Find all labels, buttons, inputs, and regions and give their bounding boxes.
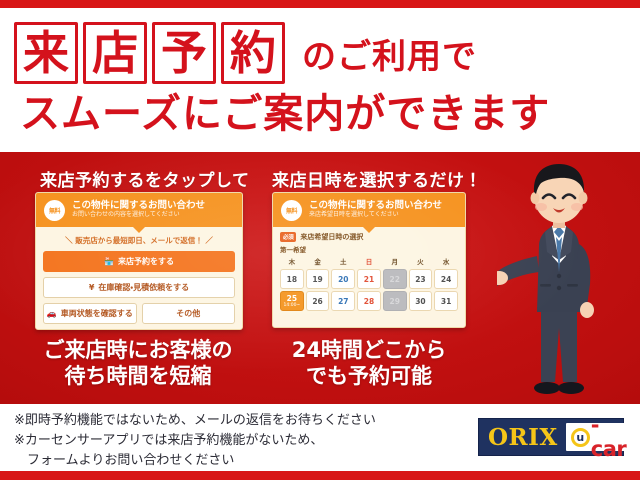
left-caption-line-1: ご来店時にお客様の — [18, 338, 258, 364]
stock-quote-button-label: 在庫確認・見積依頼をする — [98, 282, 189, 293]
calendar-day-cell[interactable]: 20 — [331, 269, 355, 289]
reserve-visit-button-label: 来店予約をする — [118, 256, 174, 267]
required-badge: 必須 — [280, 232, 296, 242]
orix-ucar-logo: ORIX u -car — [478, 418, 624, 456]
left-mock-header-sub: お問い合わせの内容を選択してください — [72, 212, 205, 219]
disclaimer-line-3: フォームよりお問い合わせください — [14, 451, 464, 471]
calendar-day-cell[interactable]: 24 — [434, 269, 458, 289]
disclaimer-line-2: ※カーセンサーアプリでは来店予約機能がないため、 — [14, 431, 464, 451]
ucar-wordmark: u -car — [566, 423, 626, 451]
calendar-day-cell-disabled: 22 — [383, 269, 407, 289]
calendar-day-cell-selected[interactable]: 25 14:00~ — [280, 291, 304, 311]
footer-area: ※即時予約機能ではないため、メールの返信をお待ちください ※カーセンサーアプリで… — [0, 404, 640, 471]
calendar-day-cell[interactable]: 31 — [434, 291, 458, 311]
headline-kanji-box-4: 約 — [221, 22, 285, 84]
calendar-label-row: 必須 来店希望日時の選択 — [280, 232, 458, 242]
other-button-label: その他 — [176, 308, 200, 319]
reserve-visit-button[interactable]: 🏪 来店予約をする — [43, 251, 235, 272]
vehicle-condition-button[interactable]: 🚗 車両状態を確認する — [43, 303, 137, 324]
right-mock-header-text: この物件に関するお問い合わせ 来店希望日時を選択してください — [309, 201, 442, 219]
bottom-red-rule — [0, 471, 640, 480]
day-number: 27 — [338, 297, 348, 306]
headline-kanji-box-2: 店 — [83, 22, 147, 84]
day-number: 19 — [312, 275, 322, 284]
right-mock-header-sub: 来店希望日時を選択してください — [309, 212, 442, 219]
top-red-rule — [0, 0, 640, 8]
calendar-weekday-header: 木 金 土 日 月 火 水 — [280, 256, 458, 267]
calendar-day-cell[interactable]: 19 — [306, 269, 330, 289]
day-number: 30 — [415, 297, 425, 306]
day-number: 24 — [441, 275, 451, 284]
weekday-sun: 日 — [357, 256, 381, 267]
left-mock-button-row: 🚗 車両状態を確認する その他 — [43, 303, 235, 324]
calendar-day-cell[interactable]: 27 — [331, 291, 355, 311]
right-caption-line-2: でも予約可能 — [264, 364, 474, 390]
calendar-week-row: 25 14:00~ 26 27 28 29 30 31 — [280, 291, 458, 311]
car-wordmark-text: -car — [591, 413, 626, 461]
headline-area: 来 店 予 約 のご利用で スムーズにご案内ができます — [0, 8, 640, 152]
right-caption: 24時間どこから でも予約可能 — [264, 338, 474, 389]
day-number: 18 — [287, 275, 297, 284]
day-number: 22 — [389, 275, 399, 284]
left-mock-lead-text: ＼ 販売店から最短即日、メールで返信！ ／ — [43, 235, 235, 246]
headline-kanji-box-1: 来 — [14, 22, 78, 84]
calendar-day-cell[interactable]: 23 — [409, 269, 433, 289]
day-number: 31 — [441, 297, 451, 306]
calendar-day-cell[interactable]: 18 — [280, 269, 304, 289]
left-caption-line-2: 待ち時間を短縮 — [18, 364, 258, 390]
calendar-day-cell[interactable]: 30 — [409, 291, 433, 311]
vehicle-condition-button-label: 車両状態を確認する — [61, 308, 133, 319]
headline-line-2: スムーズにご案内ができます — [20, 92, 620, 136]
day-time-label: 14:00~ — [283, 304, 300, 309]
weekday-wed: 水 — [434, 256, 458, 267]
orix-wordmark: ORIX — [479, 424, 566, 451]
left-mock-header-text: この物件に関するお問い合わせ お問い合わせの内容を選択してください — [72, 201, 205, 219]
day-number: 20 — [338, 275, 348, 284]
day-number: 26 — [312, 297, 322, 306]
right-panel-title: 来店日時を選択するだけ！ — [272, 166, 482, 191]
weekday-tue: 火 — [409, 256, 433, 267]
left-phone-mockup: 無料 この物件に関するお問い合わせ お問い合わせの内容を選択してください ＼ 販… — [35, 192, 243, 330]
left-mock-header: 無料 この物件に関するお問い合わせ お問い合わせの内容を選択してください — [36, 193, 242, 227]
right-caption-line-1: 24時間どこから — [264, 338, 474, 364]
red-feature-section: 来店予約するをタップして 来店日時を選択するだけ！ 無料 この物件に関するお問い… — [0, 152, 640, 404]
day-number: 29 — [389, 297, 399, 306]
car-icon: 🚗 — [47, 309, 57, 318]
right-mock-body: 必須 来店希望日時の選択 第一希望 木 金 土 日 月 火 水 18 19 20 — [273, 227, 465, 317]
weekday-thu: 木 — [280, 256, 304, 267]
store-icon: 🏪 — [104, 257, 114, 266]
calendar-day-cell[interactable]: 21 — [357, 269, 381, 289]
left-caption: ご来店時にお客様の 待ち時間を短縮 — [18, 338, 258, 389]
right-mock-header: 無料 この物件に関するお問い合わせ 来店希望日時を選択してください — [273, 193, 465, 227]
left-panel-title: 来店予約するをタップして — [40, 166, 250, 191]
weekday-mon: 月 — [383, 256, 407, 267]
yen-icon: ¥ — [89, 283, 95, 292]
weekday-sat: 土 — [331, 256, 355, 267]
headline-line-1: 来 店 予 約 のご利用で — [14, 20, 626, 86]
calendar-day-cell[interactable]: 26 — [306, 291, 330, 311]
calendar-label: 来店希望日時の選択 — [300, 232, 363, 242]
day-number: 28 — [364, 297, 374, 306]
day-number: 25 — [287, 294, 297, 303]
disclaimer-line-1: ※即時予約機能ではないため、メールの返信をお待ちください — [14, 411, 464, 431]
headline-tail-text: のご利用で — [302, 29, 477, 78]
businessman-illustration — [497, 160, 629, 404]
left-mock-body: ＼ 販売店から最短即日、メールで返信！ ／ 🏪 来店予約をする ¥ 在庫確認・見… — [36, 227, 242, 330]
stock-quote-button[interactable]: ¥ 在庫確認・見積依頼をする — [43, 277, 235, 298]
free-badge-icon: 無料 — [281, 200, 302, 221]
calendar-week-row: 18 19 20 21 22 23 24 — [280, 269, 458, 289]
advertisement-banner: 来 店 予 約 のご利用で スムーズにご案内ができます 来店予約するをタップして… — [0, 0, 640, 480]
day-number: 21 — [364, 275, 374, 284]
u-circle-icon: u — [571, 428, 590, 447]
headline-kanji-box-3: 予 — [152, 22, 216, 84]
free-badge-icon: 無料 — [44, 200, 65, 221]
calendar-day-cell[interactable]: 28 — [357, 291, 381, 311]
day-number: 23 — [415, 275, 425, 284]
right-phone-mockup: 無料 この物件に関するお問い合わせ 来店希望日時を選択してください 必須 来店希… — [272, 192, 466, 328]
calendar-day-cell-disabled: 29 — [383, 291, 407, 311]
preference-label: 第一希望 — [280, 244, 458, 254]
other-button[interactable]: その他 — [142, 303, 236, 324]
weekday-fri: 金 — [306, 256, 330, 267]
disclaimer-notes: ※即時予約機能ではないため、メールの返信をお待ちください ※カーセンサーアプリで… — [14, 411, 464, 471]
